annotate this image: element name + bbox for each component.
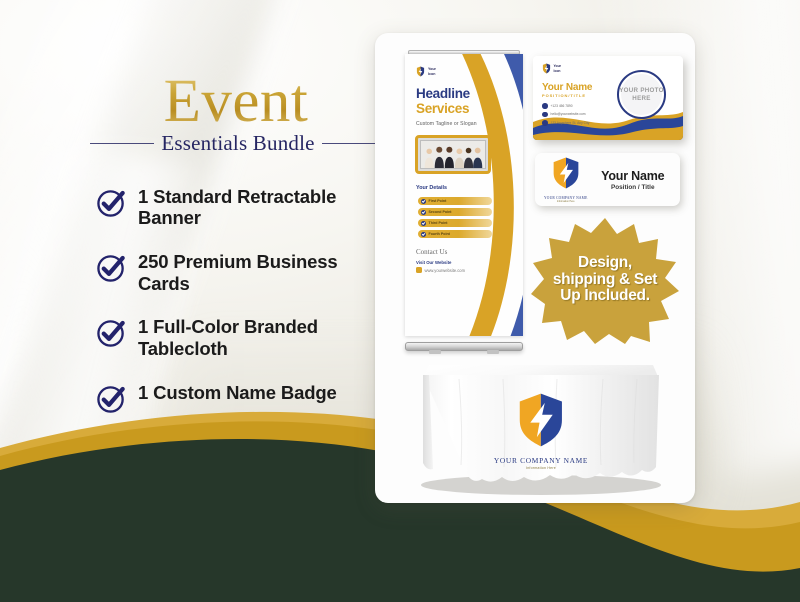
check-circle-icon <box>96 252 127 283</box>
banner-details-title: Your Details <box>416 185 447 191</box>
business-card-contact-row: +123 456 7890 <box>542 103 589 109</box>
left-content-column: Event Essentials Bundle 1 Standard Retra… <box>86 72 386 436</box>
list-item-label: 1 Custom Name Badge <box>138 382 337 404</box>
globe-icon <box>416 267 422 273</box>
business-card-address: 123 Anywhere St, Any City <box>551 121 590 125</box>
shield-bolt-icon <box>513 391 569 449</box>
product-showcase-panel: YourIcon Headline Services Custom Taglin… <box>375 33 695 503</box>
banner-points-list: First Point Second Point Third Point Fou… <box>418 194 492 238</box>
shield-bolt-icon <box>549 156 583 190</box>
phone-icon <box>542 103 548 109</box>
check-circle-icon <box>96 187 127 218</box>
banner-photo-frame <box>415 135 491 174</box>
shield-bolt-icon <box>416 66 425 77</box>
banner-website-url: www.yourwebsite.com <box>425 268 466 273</box>
check-circle-icon <box>96 317 127 348</box>
banner-point: First Point <box>418 197 492 205</box>
retractable-banner-mockup: YourIcon Headline Services Custom Taglin… <box>405 46 523 351</box>
banner-services: Services <box>416 102 470 116</box>
name-badge-mockup: YOUR COMPANY NAME Information Here Your … <box>535 153 680 206</box>
business-card-contact-row: hello@yourwebsite.com <box>542 112 589 118</box>
list-item: 1 Full-Color Branded Tablecloth <box>96 316 386 359</box>
business-card-contact-list: +123 456 7890 hello@yourwebsite.com 123 … <box>542 103 589 129</box>
banner-headline: Headline <box>416 87 470 101</box>
check-dot-icon <box>421 221 426 226</box>
team-photo <box>420 140 486 169</box>
business-card-logo-label: YourIcon <box>554 64 561 73</box>
banner-heading-block: Headline Services <box>416 87 470 116</box>
banner-point-label: Fourth Point <box>429 232 450 236</box>
banner-contact-title: Contact Us <box>416 248 447 256</box>
banner-logo-label: YourIcon <box>428 67 436 76</box>
tablecloth-company-sub: Information Here <box>494 466 588 470</box>
name-badge-position: Position / Title <box>594 184 671 191</box>
subtitle-row: Essentials Bundle <box>86 131 386 156</box>
list-item-label: 1 Standard Retractable Banner <box>138 186 386 229</box>
banner-point-label: Second Point <box>429 210 452 214</box>
list-item: 1 Standard Retractable Banner <box>96 186 386 229</box>
banner-point-label: Third Point <box>429 221 448 225</box>
business-card-phone: +123 456 7890 <box>551 104 573 108</box>
business-card-name: Your Name <box>542 82 592 93</box>
tablecloth-logo: YOUR COMPANY NAME Information Here <box>494 391 588 470</box>
list-item: 1 Custom Name Badge <box>96 382 386 414</box>
business-card-mockup: YourIcon Your Name POSITION/TITLE +123 4… <box>533 56 683 140</box>
banner-point-label: First Point <box>429 199 447 203</box>
banner-face: YourIcon Headline Services Custom Taglin… <box>405 54 523 336</box>
banner-point: Third Point <box>418 219 492 227</box>
banner-point: Second Point <box>418 208 492 216</box>
name-badge-text-block: Your Name Position / Title <box>594 169 671 191</box>
banner-logo: YourIcon <box>416 66 436 77</box>
check-dot-icon <box>421 199 426 204</box>
name-badge-name: Your Name <box>594 169 671 183</box>
check-dot-icon <box>421 232 426 237</box>
business-card-contact-row: 123 Anywhere St, Any City <box>542 120 589 126</box>
banner-point: Fourth Point <box>418 230 492 238</box>
subtitle-rule-left <box>90 143 154 144</box>
name-badge-company: YOUR COMPANY NAME <box>544 196 587 200</box>
starburst-label: Design, shipping & Set Up Included. <box>531 216 679 344</box>
tablecloth-company-name: YOUR COMPANY NAME <box>494 456 588 465</box>
shield-bolt-icon <box>542 63 551 74</box>
promo-canvas: Event Essentials Bundle 1 Standard Retra… <box>0 0 800 602</box>
business-card-email: hello@yourwebsite.com <box>551 112 586 116</box>
tablecloth-mockup: YOUR COMPANY NAME Information Here <box>407 345 675 495</box>
banner-visit-label: Visit Our Website <box>416 260 451 265</box>
banner-tagline: Custom Tagline or Slogan <box>416 121 477 127</box>
business-card-logo: YourIcon <box>542 63 561 74</box>
name-badge-logo: YOUR COMPANY NAME Information Here <box>544 156 587 204</box>
business-card-photo-placeholder: YOUR PHOTO HERE <box>617 70 666 119</box>
banner-website-row: www.yourwebsite.com <box>416 267 465 273</box>
photo-placeholder-label: YOUR PHOTO HERE <box>619 87 664 103</box>
page-subtitle: Essentials Bundle <box>161 131 314 156</box>
business-card-position: POSITION/TITLE <box>542 93 586 98</box>
check-circle-icon <box>96 383 127 414</box>
list-item: 250 Premium Business Cards <box>96 251 386 294</box>
check-dot-icon <box>421 210 426 215</box>
email-icon <box>542 112 548 118</box>
list-item-label: 250 Premium Business Cards <box>138 251 386 294</box>
name-badge-company-sub: Information Here <box>544 200 587 203</box>
starburst-badge: Design, shipping & Set Up Included. <box>531 216 679 344</box>
bundle-checklist: 1 Standard Retractable Banner 250 Premiu… <box>86 186 386 414</box>
location-icon <box>542 120 548 126</box>
title-block: Event Essentials Bundle <box>86 72 386 156</box>
page-title: Event <box>86 72 386 134</box>
list-item-label: 1 Full-Color Branded Tablecloth <box>138 316 386 359</box>
